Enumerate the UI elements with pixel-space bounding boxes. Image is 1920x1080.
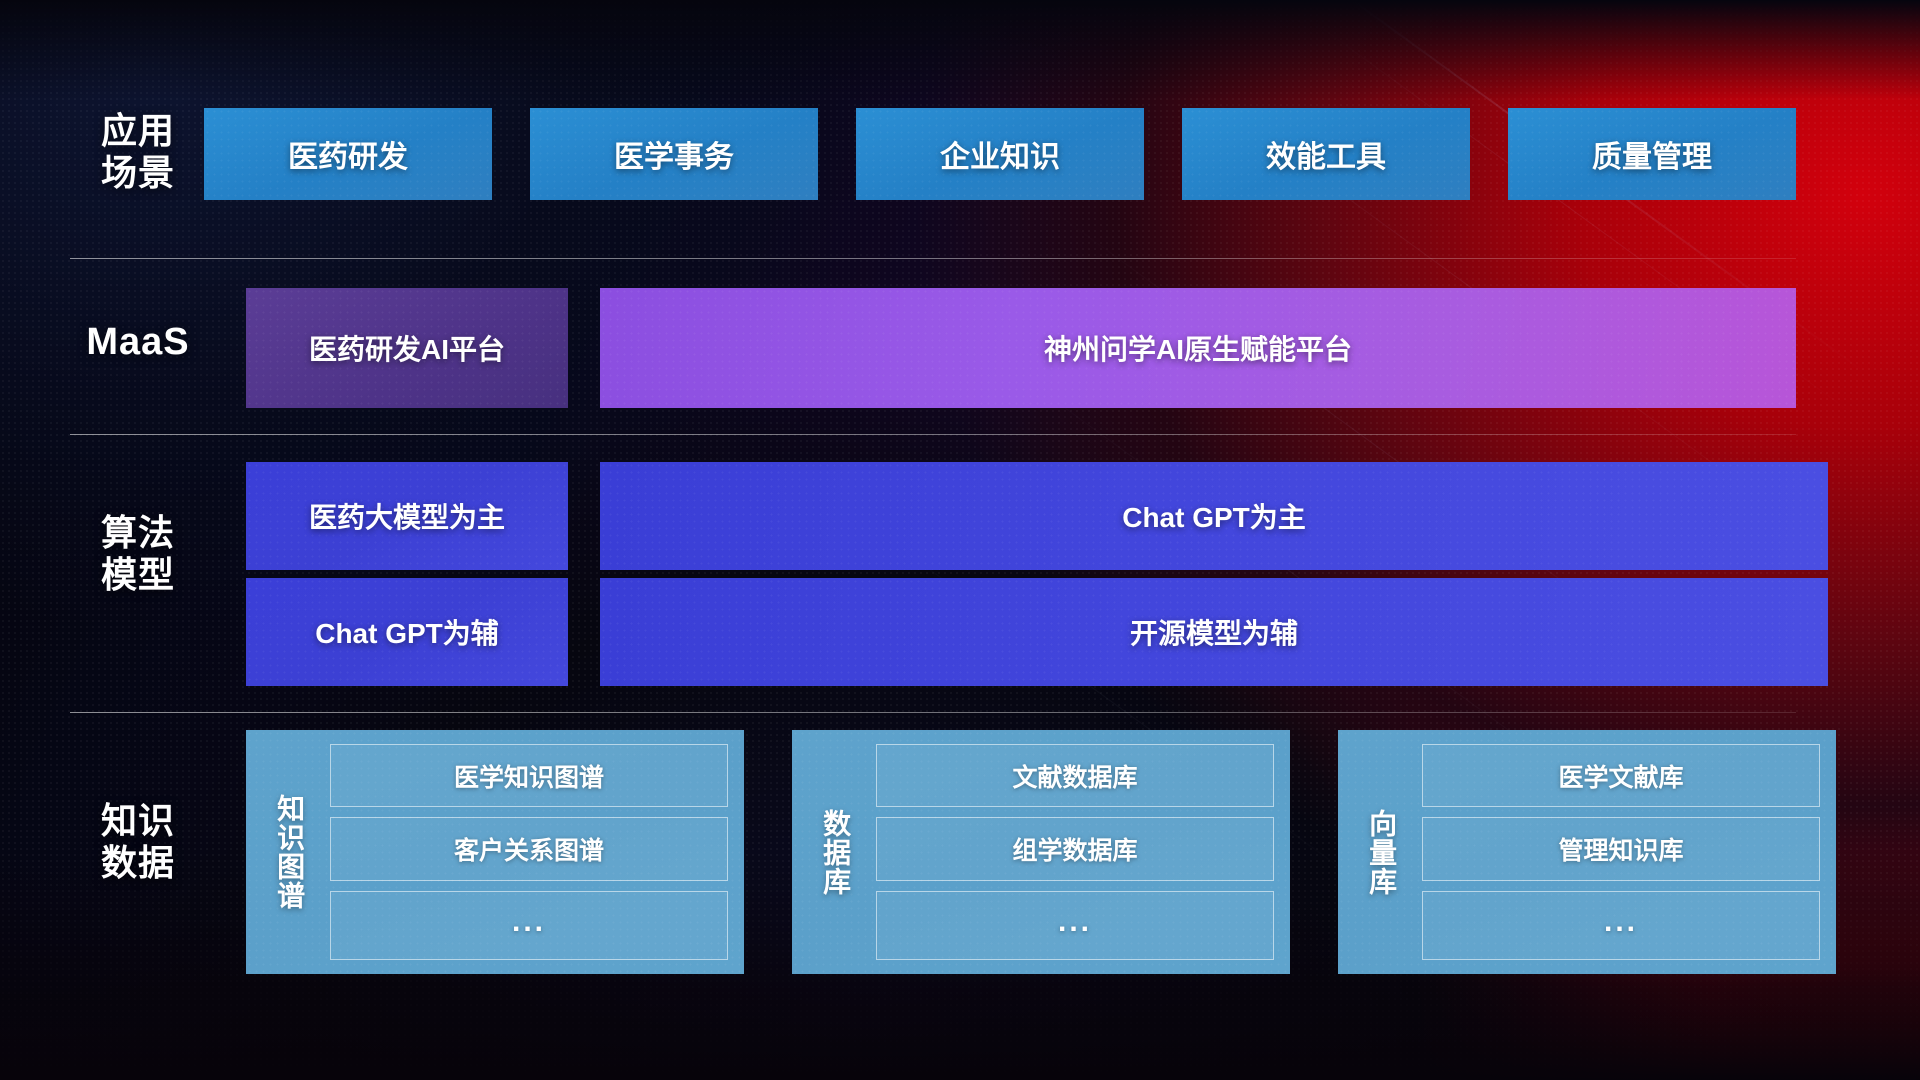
- app-scenario-label: 医学事务: [614, 132, 734, 176]
- maas-platform-box-right[interactable]: 神州问学AI原生赋能平台: [600, 288, 1796, 408]
- app-scenario-box-4[interactable]: 效能工具: [1182, 108, 1470, 200]
- algorithm-box-primary-left[interactable]: 医药大模型为主: [246, 462, 568, 570]
- app-scenario-box-2[interactable]: 医学事务: [530, 108, 818, 200]
- app-scenario-label: 效能工具: [1266, 132, 1386, 176]
- algorithm-box-primary-right[interactable]: Chat GPT为主: [600, 462, 1828, 570]
- maas-platform-label: 神州问学AI原生赋能平台: [1044, 328, 1352, 368]
- knowledge-card-item-more[interactable]: ...: [876, 891, 1274, 960]
- row-label-line: 模型: [78, 554, 198, 596]
- algorithm-box-secondary-right[interactable]: 开源模型为辅: [600, 578, 1828, 686]
- knowledge-card-item[interactable]: 客户关系图谱: [330, 817, 728, 880]
- row-label-line: 场景: [78, 152, 198, 194]
- algorithm-label: 开源模型为辅: [1130, 612, 1298, 652]
- row-label-knowledge-data: 知识 数据: [78, 800, 198, 884]
- app-scenario-box-3[interactable]: 企业知识: [856, 108, 1144, 200]
- knowledge-card-item[interactable]: 医学知识图谱: [330, 744, 728, 807]
- row-divider-1: [70, 258, 1796, 259]
- knowledge-card-title: 数据库: [806, 744, 864, 960]
- knowledge-card-item[interactable]: 管理知识库: [1422, 817, 1820, 880]
- app-scenario-label: 企业知识: [940, 132, 1060, 176]
- knowledge-card-item[interactable]: 医学文献库: [1422, 744, 1820, 807]
- algorithm-label: Chat GPT为辅: [315, 612, 499, 652]
- row-label-maas: MaaS: [70, 320, 206, 364]
- maas-platform-box-left[interactable]: 医药研发AI平台: [246, 288, 568, 408]
- row-divider-3: [70, 712, 1796, 713]
- knowledge-card-database[interactable]: 数据库 文献数据库 组学数据库 ...: [792, 730, 1290, 974]
- row-label-application-scenarios: 应用 场景: [78, 110, 198, 194]
- knowledge-card-item[interactable]: 文献数据库: [876, 744, 1274, 807]
- row-divider-2: [70, 434, 1796, 435]
- row-label-line: 应用: [78, 110, 198, 152]
- app-scenario-box-1[interactable]: 医药研发: [204, 108, 492, 200]
- knowledge-card-item-list: 文献数据库 组学数据库 ...: [876, 744, 1274, 960]
- row-label-line: 算法: [78, 512, 198, 554]
- knowledge-card-item-more[interactable]: ...: [1422, 891, 1820, 960]
- maas-platform-label: 医药研发AI平台: [309, 328, 505, 368]
- row-label-line: 数据: [78, 842, 198, 884]
- row-label-line: MaaS: [70, 320, 206, 364]
- knowledge-card-title: 向量库: [1352, 744, 1410, 960]
- knowledge-card-item-more[interactable]: ...: [330, 891, 728, 960]
- algorithm-label: 医药大模型为主: [309, 496, 505, 536]
- algorithm-box-secondary-left[interactable]: Chat GPT为辅: [246, 578, 568, 686]
- knowledge-card-knowledge-graph[interactable]: 知识图谱 医学知识图谱 客户关系图谱 ...: [246, 730, 744, 974]
- knowledge-card-item-list: 医学文献库 管理知识库 ...: [1422, 744, 1820, 960]
- row-label-algorithm-model: 算法 模型: [78, 512, 198, 596]
- app-scenario-label: 质量管理: [1592, 132, 1712, 176]
- knowledge-card-item-list: 医学知识图谱 客户关系图谱 ...: [330, 744, 728, 960]
- app-scenario-box-5[interactable]: 质量管理: [1508, 108, 1796, 200]
- knowledge-card-vector-store[interactable]: 向量库 医学文献库 管理知识库 ...: [1338, 730, 1836, 974]
- algorithm-label: Chat GPT为主: [1122, 496, 1306, 536]
- row-label-line: 知识: [78, 800, 198, 842]
- app-scenario-label: 医药研发: [288, 132, 408, 176]
- knowledge-card-title: 知识图谱: [260, 744, 318, 960]
- knowledge-card-item[interactable]: 组学数据库: [876, 817, 1274, 880]
